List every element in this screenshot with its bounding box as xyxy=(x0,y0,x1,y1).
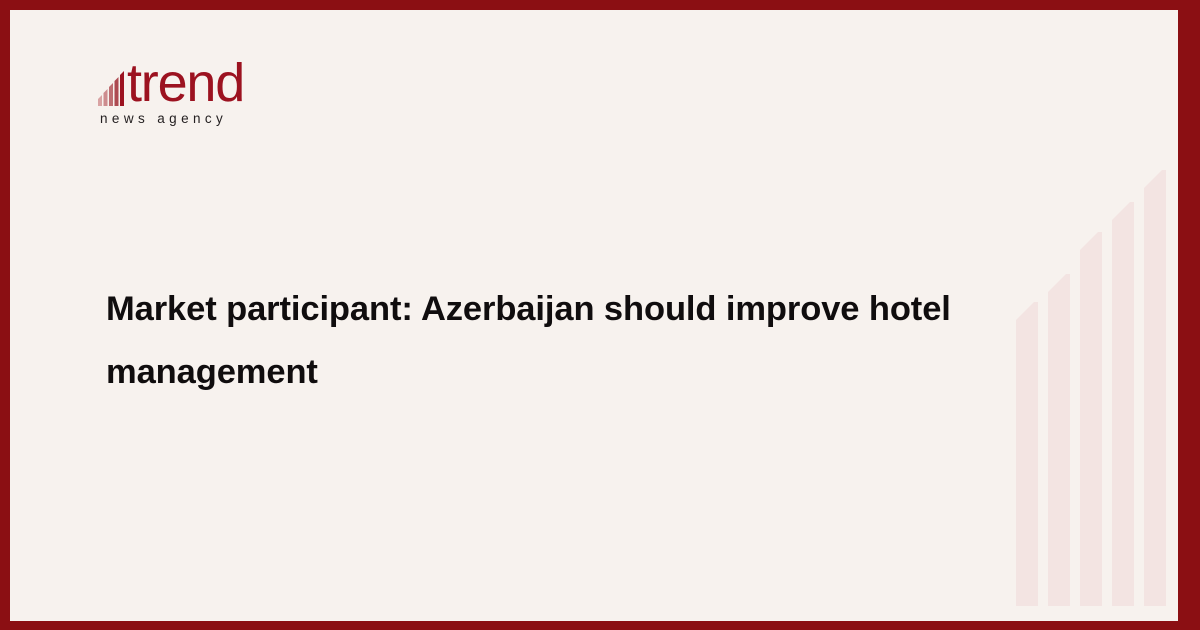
logo-tagline: news agency xyxy=(100,111,326,126)
logo-lockup: trend xyxy=(96,48,326,106)
social-share-card: trend news agency Market participant: Az… xyxy=(0,0,1200,630)
page-title: Market participant: Azerbaijan should im… xyxy=(106,278,1041,404)
logo-wordmark: trend xyxy=(127,58,244,108)
ascending-bars-logo-mark-icon xyxy=(96,56,126,106)
trend-logo[interactable]: trend news agency xyxy=(96,48,326,140)
card-canvas: trend news agency Market participant: Az… xyxy=(10,10,1178,621)
